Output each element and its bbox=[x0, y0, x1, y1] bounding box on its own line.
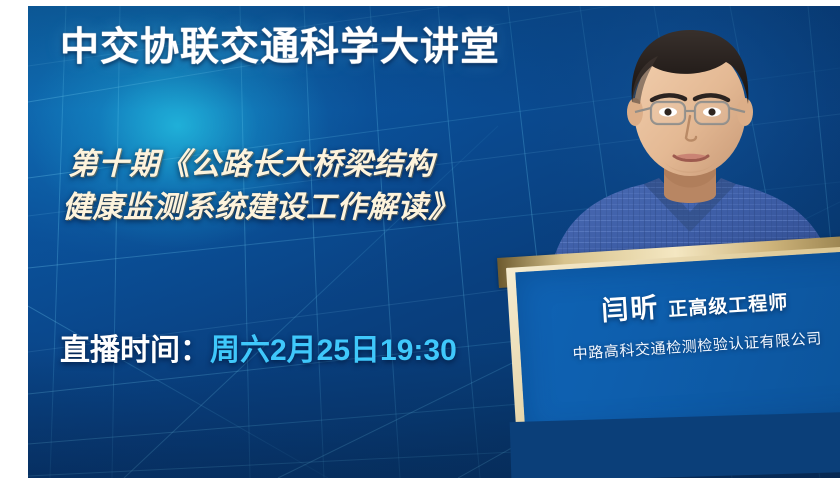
panel-bottom-clip bbox=[510, 410, 840, 478]
speaker-organization: 中路高科交通检测检验认证有限公司 bbox=[572, 327, 822, 364]
speaker-name-row: 闫昕 正高级工程师 bbox=[600, 277, 789, 328]
speaker-name: 闫昕 bbox=[600, 285, 660, 328]
broadcast-time: 直播时间：周六2月25日19:30 bbox=[60, 336, 457, 366]
subtitle-line-2: 健康监测系统建设工作解读》 bbox=[62, 187, 608, 230]
poster-artwork: 中交协联交通科学大讲堂 第十期《公路长大桥梁结构 健康监测系统建设工作解读》 直… bbox=[28, 6, 840, 478]
page-title: 中交协联交通科学大讲堂 bbox=[60, 28, 500, 67]
panel-text-group: 闫昕 正高级工程师 中路高科交通检测检验认证有限公司 bbox=[506, 245, 840, 416]
episode-subtitle: 第十期《公路长大桥梁结构 健康监测系统建设工作解读》 bbox=[68, 144, 608, 229]
poster-root: 中交协联交通科学大讲堂 第十期《公路长大桥梁结构 健康监测系统建设工作解读》 直… bbox=[0, 0, 840, 480]
speaker-title: 正高级工程师 bbox=[667, 287, 788, 321]
speaker-info-panel: 闫昕 正高级工程师 中路高科交通检测检验认证有限公司 bbox=[506, 245, 840, 440]
subtitle-line-1: 第十期《公路长大桥梁结构 bbox=[68, 148, 434, 181]
broadcast-time-value: 周六2月25日19:30 bbox=[210, 334, 457, 367]
broadcast-time-label: 直播时间： bbox=[60, 334, 210, 367]
